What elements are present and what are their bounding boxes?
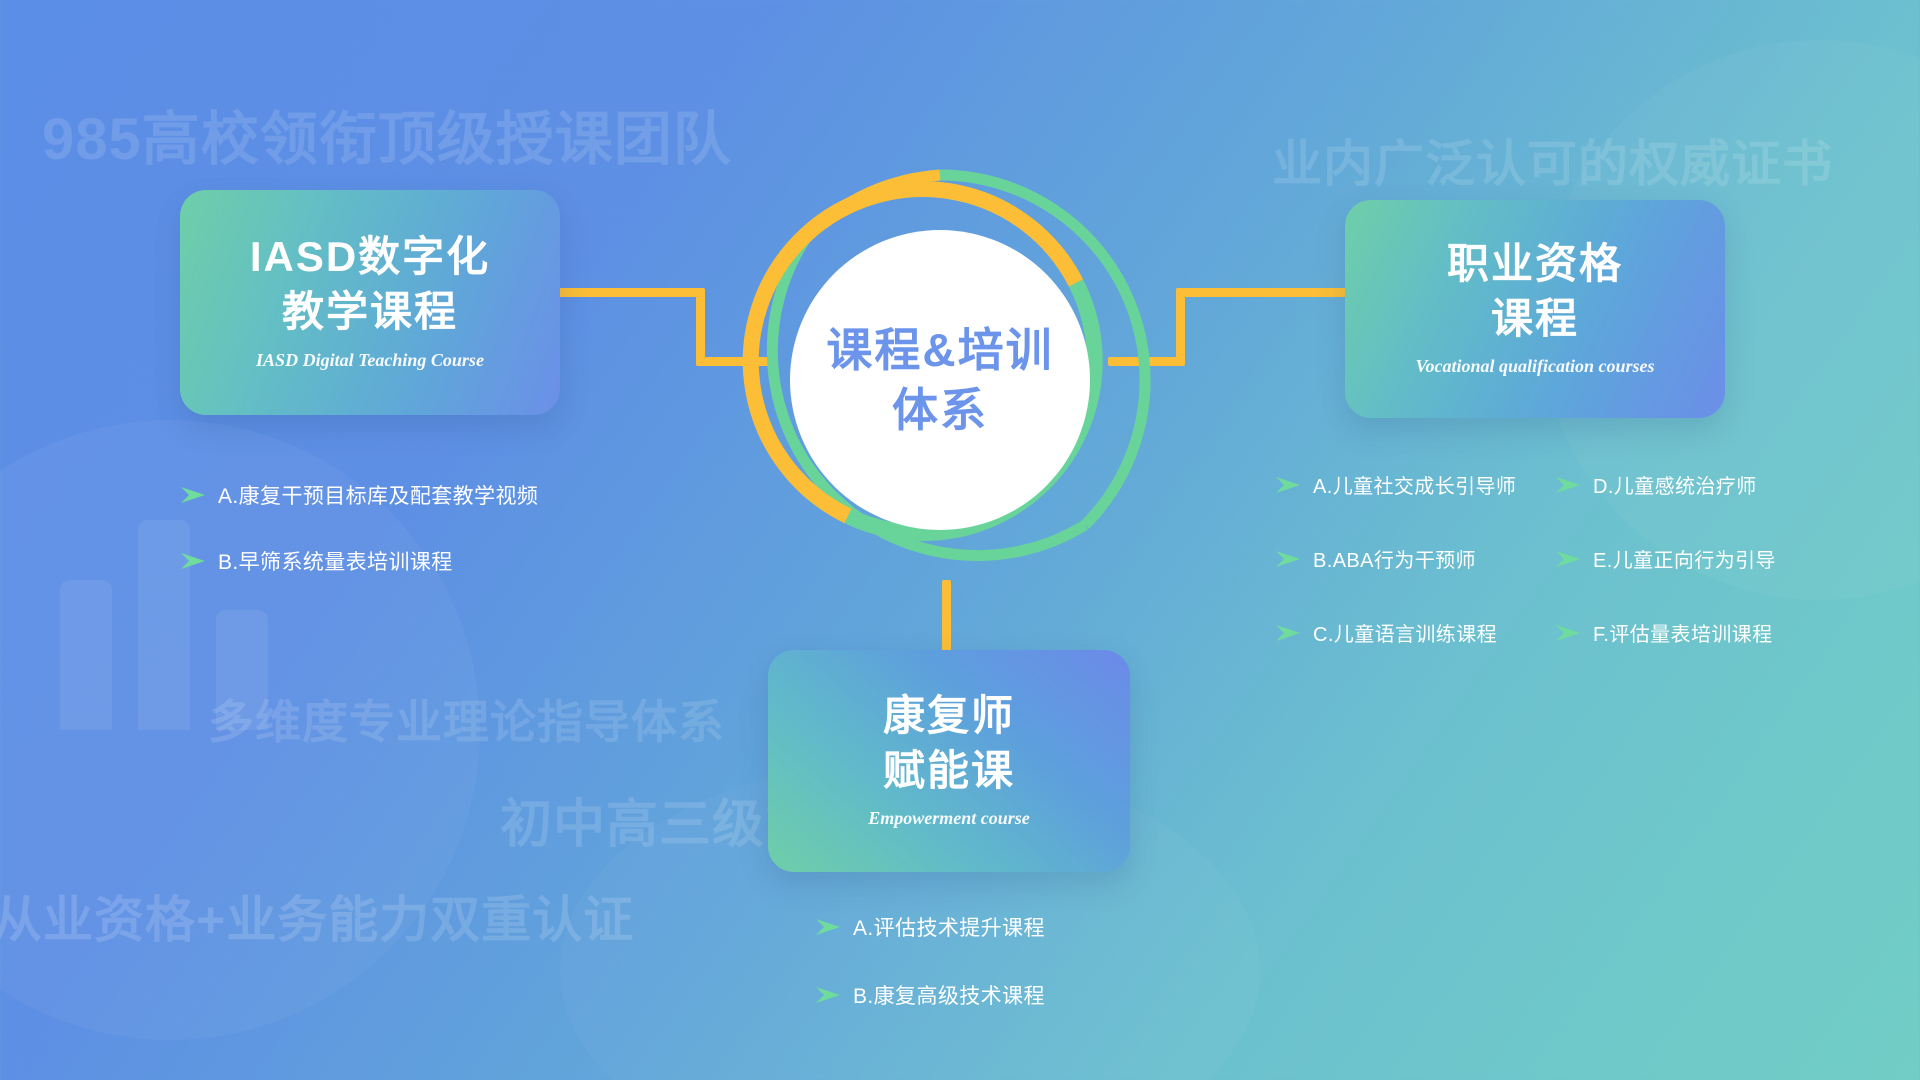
card-bottom-title-line1: 康复师: [883, 689, 1015, 744]
card-right-subtitle: Vocational qualification courses: [1415, 356, 1654, 377]
list-item[interactable]: A.儿童社交成长引导师: [1275, 470, 1516, 499]
list-item-label: A.康复干预目标库及配套教学视频: [218, 480, 538, 510]
card-bottom-subtitle: Empowerment course: [868, 808, 1030, 829]
list-item-label: A.评估技术提升课程: [853, 912, 1045, 942]
list-item-label: B.早筛系统量表培训课程: [218, 546, 453, 576]
list-item[interactable]: F.评估量表培训课程: [1555, 618, 1776, 647]
list-item[interactable]: B.康复高级技术课程: [815, 980, 1045, 1010]
list-item[interactable]: A.康复干预目标库及配套教学视频: [180, 480, 538, 510]
hub-title-line1: 课程&培训: [826, 323, 1053, 377]
card-empowerment-course[interactable]: 康复师 赋能课 Empowerment course: [768, 650, 1130, 872]
list-item[interactable]: E.儿童正向行为引导: [1555, 544, 1776, 573]
list-item[interactable]: B.早筛系统量表培训课程: [180, 546, 538, 576]
arrow-right-icon: [1555, 476, 1581, 494]
card-right-title-line1: 职业资格: [1447, 237, 1623, 292]
arrow-right-icon: [1555, 550, 1581, 568]
bullet-list-bottom: A.评估技术提升课程 B.康复高级技术课程: [815, 912, 1045, 1010]
card-left-title-line2: 教学课程: [282, 285, 458, 340]
arrow-right-icon: [180, 486, 206, 504]
watermark-middle-left: 多维度专业理论指导体系: [208, 686, 725, 752]
list-item[interactable]: D.儿童感统治疗师: [1555, 470, 1776, 499]
arrow-right-icon: [1555, 624, 1581, 642]
arrow-right-icon: [815, 918, 841, 936]
arrow-right-icon: [180, 552, 206, 570]
hub-diagram: 课程&培训 体系: [728, 168, 1152, 592]
watermark-top-left: 985高校领衔顶级授课团队: [42, 92, 732, 176]
list-item-label: D.儿童感统治疗师: [1593, 470, 1757, 499]
watermark-bottom-left: 从业资格+业务能力双重认证: [0, 880, 634, 952]
bullet-list-right-column-1: A.儿童社交成长引导师 B.ABA行为干预师 C.儿童语言训练课程: [1275, 470, 1516, 647]
hub-label: 课程&培训 体系: [728, 168, 1152, 592]
card-left-title-line1: IASD数字化: [250, 230, 490, 285]
list-item-label: B.康复高级技术课程: [853, 980, 1045, 1010]
list-item[interactable]: C.儿童语言训练课程: [1275, 618, 1516, 647]
hub-title-line2: 体系: [892, 383, 988, 437]
list-item-label: C.儿童语言训练课程: [1313, 618, 1497, 647]
arrow-right-icon: [1275, 476, 1301, 494]
list-item-label: F.评估量表培训课程: [1593, 618, 1773, 647]
bullet-list-right-column-2: D.儿童感统治疗师 E.儿童正向行为引导 F.评估量表培训课程: [1555, 470, 1776, 647]
card-bottom-title-line2: 赋能课: [883, 744, 1015, 799]
connector-right-horizontal-upper: [1176, 288, 1348, 297]
arrow-right-icon: [815, 986, 841, 1004]
card-right-title-line2: 课程: [1491, 292, 1579, 347]
list-item[interactable]: B.ABA行为干预师: [1275, 544, 1516, 573]
connector-bottom-vertical: [942, 580, 951, 660]
list-item-label: B.ABA行为干预师: [1313, 544, 1476, 573]
connector-left-horizontal-upper: [556, 288, 704, 297]
arrow-right-icon: [1275, 550, 1301, 568]
connector-left-vertical: [696, 288, 705, 366]
card-iasd-digital-teaching[interactable]: IASD数字化 教学课程 IASD Digital Teaching Cours…: [180, 190, 560, 415]
watermark-top-right: 业内广泛认可的权威证书: [1272, 124, 1833, 196]
list-item[interactable]: A.评估技术提升课程: [815, 912, 1045, 942]
list-item-label: E.儿童正向行为引导: [1593, 544, 1776, 573]
list-item-label: A.儿童社交成长引导师: [1313, 470, 1516, 499]
bullet-list-left: A.康复干预目标库及配套教学视频 B.早筛系统量表培训课程: [180, 480, 538, 576]
card-vocational-qualification[interactable]: 职业资格 课程 Vocational qualification courses: [1345, 200, 1725, 418]
arrow-right-icon: [1275, 624, 1301, 642]
card-left-subtitle: IASD Digital Teaching Course: [256, 350, 484, 371]
connector-right-vertical: [1176, 288, 1185, 366]
